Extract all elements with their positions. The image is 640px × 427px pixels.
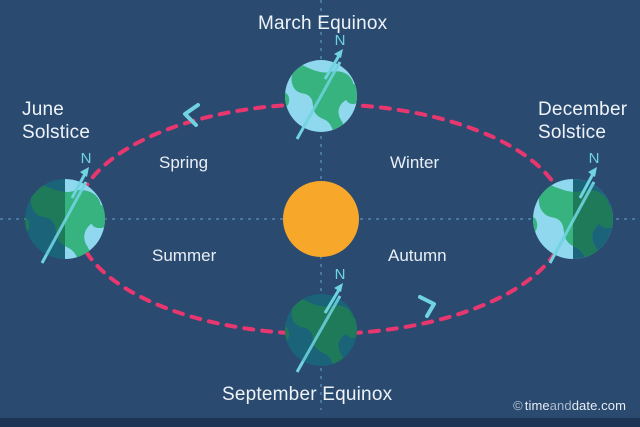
season-label-winter: Winter [390, 153, 439, 173]
pole-label-december: N [589, 150, 600, 167]
copyright-symbol: © [513, 398, 523, 413]
globe-june-solstice [15, 167, 110, 280]
globe-september-equinox [276, 283, 362, 384]
label-september-equinox: September Equinox [222, 383, 392, 406]
credit-part-time: time [525, 398, 550, 413]
bottom-bar [0, 418, 640, 427]
label-june-solstice: June Solstice [22, 98, 90, 144]
globe-march-equinox [276, 49, 362, 150]
pole-label-september: N [335, 266, 346, 283]
seasons-diagram: N N N N March Equinox June Solstice Dece… [0, 0, 640, 427]
sun [283, 181, 359, 257]
label-march-equinox: March Equinox [258, 12, 387, 35]
season-label-autumn: Autumn [388, 246, 447, 266]
credit-part-date: date [572, 398, 598, 413]
globe-december-solstice [523, 167, 618, 280]
pole-label-june: N [81, 150, 92, 167]
diagram-canvas: N N N N [0, 0, 640, 427]
label-december-solstice: December Solstice [538, 98, 627, 144]
orbit-arrow-lower-right [420, 297, 434, 316]
credit-part-tld: .com [597, 398, 626, 413]
season-label-spring: Spring [159, 153, 208, 173]
season-label-summer: Summer [152, 246, 216, 266]
credit-timeanddate[interactable]: ©timeanddate.com [513, 398, 626, 413]
credit-part-and: and [550, 398, 572, 413]
